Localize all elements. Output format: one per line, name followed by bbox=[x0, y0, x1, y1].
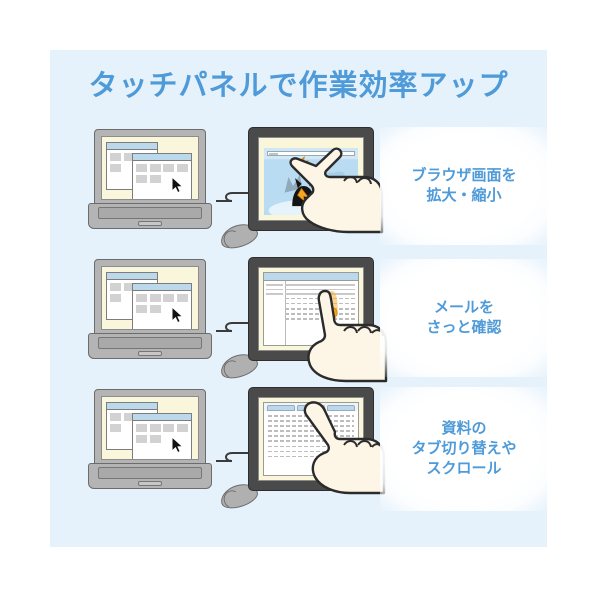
laptop-lid bbox=[94, 129, 206, 207]
sidebar-line bbox=[266, 289, 283, 291]
thumbnail bbox=[150, 164, 161, 172]
browser-addressbar bbox=[267, 151, 355, 156]
thumbnail bbox=[136, 175, 147, 183]
thumbnail bbox=[110, 413, 121, 421]
callout-line: メールを bbox=[426, 298, 501, 318]
thumbnail bbox=[110, 153, 121, 161]
tablet-document-tabs bbox=[248, 387, 374, 491]
feature-row-1: ブラウザ画面を 拡大・縮小 bbox=[50, 125, 547, 255]
thumbnail bbox=[150, 424, 161, 432]
tablet-screen bbox=[258, 397, 364, 481]
mail-row bbox=[285, 318, 355, 320]
thumbnail bbox=[110, 283, 121, 291]
laptop-trackpad bbox=[138, 481, 162, 486]
window-titlebar bbox=[107, 273, 157, 280]
mail-inbox-list bbox=[263, 272, 359, 346]
document-line bbox=[268, 415, 354, 417]
tablet-browser-photo bbox=[248, 127, 374, 231]
sidebar-line bbox=[266, 284, 283, 286]
laptop-illustration bbox=[88, 259, 216, 364]
tab-strip bbox=[264, 403, 358, 411]
thumbnail bbox=[136, 294, 147, 302]
window-front bbox=[132, 413, 192, 460]
thumbnail bbox=[110, 294, 121, 302]
cat-photo-graphic bbox=[264, 148, 358, 215]
laptop-screen bbox=[101, 266, 199, 330]
window-titlebar bbox=[133, 154, 191, 161]
thumbnail bbox=[136, 164, 147, 172]
thumbnail bbox=[150, 435, 161, 443]
sidebar-line bbox=[266, 293, 283, 295]
document-line bbox=[268, 435, 354, 437]
thumbnail bbox=[163, 294, 174, 302]
thumbnail bbox=[150, 175, 161, 183]
mail-row bbox=[285, 308, 355, 310]
laptop-lid bbox=[94, 389, 206, 467]
laptop-trackpad bbox=[138, 221, 162, 226]
tablet-screen bbox=[258, 137, 364, 221]
mouse-cursor-arrow bbox=[171, 437, 184, 453]
window-front bbox=[132, 283, 192, 330]
window-titlebar bbox=[133, 284, 191, 291]
document-tab[interactable] bbox=[297, 405, 325, 411]
laptop-keyboard-deck bbox=[88, 463, 212, 489]
callout-line: 拡大・縮小 bbox=[411, 186, 516, 206]
mail-row bbox=[285, 284, 355, 286]
tablet-bezel bbox=[248, 127, 374, 231]
document-line bbox=[268, 446, 354, 448]
photo-of-cat bbox=[264, 148, 358, 215]
thumbnail bbox=[177, 164, 188, 172]
mail-row bbox=[285, 289, 355, 291]
thumbnail bbox=[177, 424, 188, 432]
callout-tabs: 資料の タブ切り替えや スクロール bbox=[380, 387, 548, 511]
document-tab[interactable] bbox=[267, 405, 295, 411]
mail-row bbox=[285, 293, 355, 295]
tablet-mail-list bbox=[248, 257, 374, 361]
tablet-screen bbox=[258, 267, 364, 351]
document-body bbox=[264, 411, 358, 457]
document-line bbox=[268, 440, 354, 442]
laptop-keyboard bbox=[98, 207, 202, 219]
tablet-bezel bbox=[248, 257, 374, 361]
page-title: タッチパネルで作業効率アップ bbox=[50, 72, 547, 101]
window-titlebar bbox=[107, 143, 157, 150]
callout-line: スクロール bbox=[411, 459, 516, 479]
document-line bbox=[268, 430, 354, 432]
callout-mail: メールを さっと確認 bbox=[380, 259, 548, 377]
laptop-keyboard bbox=[98, 337, 202, 349]
feature-row-2: メールを さっと確認 bbox=[50, 255, 547, 385]
mail-row bbox=[285, 313, 355, 315]
laptop-illustration bbox=[88, 389, 216, 494]
laptop-illustration bbox=[88, 129, 216, 234]
document-line bbox=[268, 451, 354, 453]
mail-row bbox=[285, 298, 355, 300]
laptop-screen bbox=[101, 136, 199, 200]
laptop-lid bbox=[94, 259, 206, 337]
feature-row-3: 資料の タブ切り替えや スクロール bbox=[50, 385, 547, 515]
laptop-trackpad bbox=[138, 351, 162, 356]
callout-line: さっと確認 bbox=[426, 318, 501, 338]
mail-message-list bbox=[282, 281, 358, 345]
window-front bbox=[132, 153, 192, 200]
laptop-keyboard bbox=[98, 467, 202, 479]
window-titlebar bbox=[107, 403, 157, 410]
document-line bbox=[268, 425, 354, 427]
thumbnail bbox=[110, 164, 121, 172]
mouse-cursor-arrow bbox=[171, 177, 184, 193]
thumbnail bbox=[177, 294, 188, 302]
document-line bbox=[268, 456, 354, 458]
laptop-keyboard-deck bbox=[88, 203, 212, 229]
document-with-tabs bbox=[263, 402, 359, 476]
mail-titlebar bbox=[264, 273, 358, 281]
callout-line: ブラウザ画面を bbox=[411, 166, 516, 186]
thumbnail bbox=[136, 424, 147, 432]
laptop-screen bbox=[101, 396, 199, 460]
callout-zoom: ブラウザ画面を 拡大・縮小 bbox=[380, 127, 548, 245]
window-titlebar bbox=[133, 414, 191, 421]
thumbnail bbox=[136, 305, 147, 313]
thumbnail bbox=[163, 164, 174, 172]
laptop-keyboard-deck bbox=[88, 333, 212, 359]
mouse-cursor-arrow bbox=[171, 307, 184, 323]
thumbnail bbox=[110, 424, 121, 432]
document-line bbox=[268, 420, 354, 422]
infographic-stage: タッチパネルで作業効率アップ bbox=[0, 0, 600, 600]
callout-line: タブ切り替えや bbox=[411, 439, 516, 459]
callout-line: 資料の bbox=[411, 419, 516, 439]
thumbnail bbox=[136, 435, 147, 443]
thumbnail bbox=[150, 305, 161, 313]
tablet-bezel bbox=[248, 387, 374, 491]
mail-row bbox=[285, 303, 355, 305]
thumbnail bbox=[150, 294, 161, 302]
thumbnail bbox=[163, 424, 174, 432]
document-tab[interactable] bbox=[327, 405, 355, 411]
